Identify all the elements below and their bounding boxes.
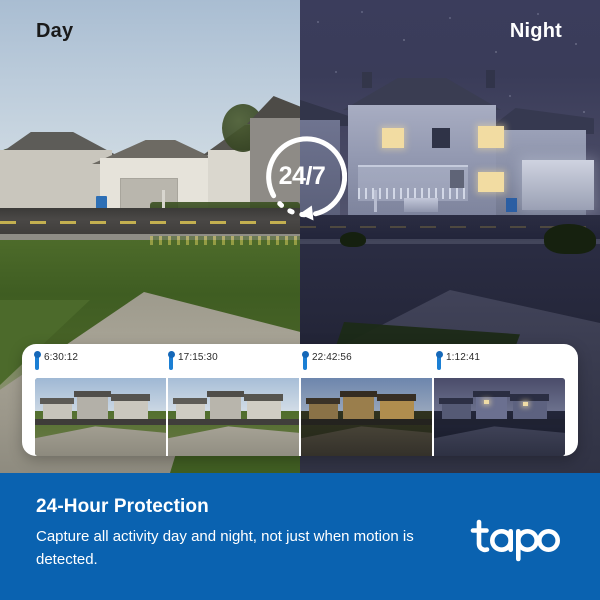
thumb-lit-window-2 xyxy=(523,402,528,406)
thumb-house-a xyxy=(43,401,72,418)
timeline-timestamp: 17:15:30 xyxy=(178,352,218,364)
tapo-wordmark-logo xyxy=(470,518,570,562)
thumb-roof-b xyxy=(207,391,244,397)
twenty-four-seven-badge: 24/7 xyxy=(255,133,347,225)
timeline-thumbnails xyxy=(35,378,565,456)
night-chimney-left xyxy=(362,72,372,88)
timeline-thumbnail-4[interactable] xyxy=(434,378,565,456)
night-lit-window-1 xyxy=(382,128,404,148)
timeline-pin-icon xyxy=(169,352,173,370)
night-recycling-bin xyxy=(506,198,517,212)
thumb-roof-a xyxy=(173,398,207,404)
thumb-roof-a xyxy=(439,398,473,404)
thumb-road xyxy=(301,419,432,425)
day-label: Day xyxy=(36,20,73,43)
timeline-marker-4[interactable]: 1:12:41 xyxy=(437,352,480,370)
night-dark-window-1 xyxy=(432,128,450,148)
thumb-roof-b xyxy=(74,391,111,397)
timeline-marker-2[interactable]: 17:15:30 xyxy=(169,352,218,370)
thumb-road xyxy=(434,419,565,425)
thumb-lit-window-1 xyxy=(484,400,489,404)
timeline-pin-icon xyxy=(437,352,441,370)
timeline-timestamp: 6:30:12 xyxy=(44,352,78,364)
thumb-roof-a xyxy=(40,398,74,404)
thumb-house-b xyxy=(343,395,374,418)
day-flower-bed xyxy=(150,236,300,245)
thumb-house-a xyxy=(309,401,338,418)
thumb-roof-b xyxy=(473,391,510,397)
thumb-house-a xyxy=(442,401,471,418)
night-bush-left xyxy=(340,232,366,247)
thumb-roof-c xyxy=(377,394,416,400)
thumb-roof-c xyxy=(244,394,283,400)
playback-timeline-panel[interactable]: 6:30:12 17:15:30 22:42:56 1:12:41 xyxy=(22,344,578,456)
thumb-house-a xyxy=(176,401,205,418)
night-chimney-right xyxy=(486,70,495,88)
thumb-roof-c xyxy=(111,394,150,400)
timeline-timestamp: 22:42:56 xyxy=(312,352,352,364)
night-label: Night xyxy=(510,20,562,43)
timeline-timestamp: 1:12:41 xyxy=(446,352,480,364)
timeline-track[interactable]: 6:30:12 17:15:30 22:42:56 1:12:41 xyxy=(22,352,578,456)
night-lit-window-2 xyxy=(478,126,504,148)
thumb-house-c xyxy=(380,398,414,418)
thumb-roof-b xyxy=(340,391,377,397)
thumb-house-b xyxy=(210,395,241,418)
night-mailbox-post xyxy=(374,190,377,212)
thumb-roof-a xyxy=(306,398,340,404)
thumb-roof-c xyxy=(510,394,549,400)
footer-description: Capture all activity day and night, not … xyxy=(36,525,446,571)
timeline-thumbnail-1[interactable] xyxy=(35,378,166,456)
night-lit-window-3 xyxy=(478,172,504,192)
tapo-logo-icon xyxy=(470,518,570,562)
timeline-pin-icon xyxy=(303,352,307,370)
night-lit-garage xyxy=(522,160,594,210)
timeline-pin-icon xyxy=(35,352,39,370)
thumb-house-c xyxy=(247,398,281,418)
timeline-markers: 6:30:12 17:15:30 22:42:56 1:12:41 xyxy=(22,352,578,372)
thumb-house-c xyxy=(513,398,547,418)
badge-label: 24/7 xyxy=(256,130,348,222)
thumb-house-b xyxy=(77,395,108,418)
footer-title: 24-Hour Protection xyxy=(36,496,209,518)
thumb-house-c xyxy=(114,398,148,418)
timeline-thumbnail-3[interactable] xyxy=(301,378,432,456)
thumb-road xyxy=(35,419,166,425)
thumb-house-b xyxy=(476,395,507,418)
product-feature-poster: Day Night 24/7 6:30:12 xyxy=(0,0,600,600)
night-bush-right xyxy=(544,224,596,254)
timeline-marker-1[interactable]: 6:30:12 xyxy=(35,352,78,370)
thumb-road xyxy=(168,419,299,425)
night-porch-steps xyxy=(404,198,438,212)
timeline-marker-3[interactable]: 22:42:56 xyxy=(303,352,352,370)
timeline-thumbnail-2[interactable] xyxy=(168,378,299,456)
